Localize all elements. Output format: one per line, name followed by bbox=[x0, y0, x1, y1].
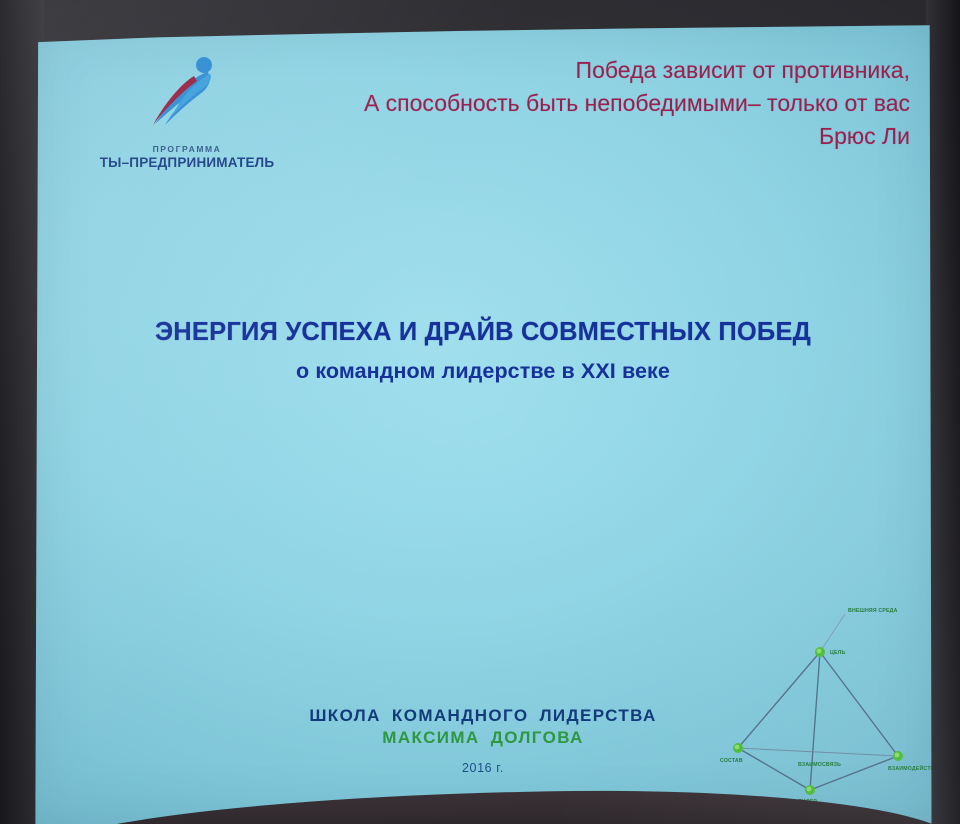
logo-programma-label: ПРОГРАММА bbox=[92, 144, 282, 154]
label-composition: СОСТАВ bbox=[720, 758, 743, 764]
running-figure-logo-icon bbox=[148, 54, 226, 142]
edge-goal-leader bbox=[810, 652, 820, 790]
edge-goal-composition bbox=[738, 652, 820, 748]
edge-composition-interaction bbox=[738, 748, 898, 756]
node-composition bbox=[733, 743, 743, 753]
team-tetrahedron-diagram: ВНЕШНЯЯ СРЕДА ЦЕЛЬ СОСТАВ ВЗАИМОДЕЙСТВИЕ… bbox=[702, 590, 932, 805]
label-external-environment: ВНЕШНЯЯ СРЕДА bbox=[848, 608, 898, 614]
photographed-slide-screenshot: ПРОГРАММА ТЫ–ПРЕДПРИНИМАТЕЛЬ Победа зави… bbox=[0, 0, 960, 824]
logo-program-name: ТЫ–ПРЕДПРИНИМАТЕЛЬ bbox=[92, 155, 282, 170]
quote-author: Брюс Ли bbox=[270, 120, 910, 153]
projected-slide-clip: ПРОГРАММА ТЫ–ПРЕДПРИНИМАТЕЛЬ Победа зави… bbox=[30, 18, 936, 824]
page-subtitle: о командном лидерстве в XXI веке bbox=[30, 359, 936, 384]
quote-line-2: А способность быть непобедимыми– только … bbox=[270, 87, 910, 120]
external-environment-leader-line bbox=[820, 614, 845, 652]
program-logo: ПРОГРАММА ТЫ–ПРЕДПРИНИМАТЕЛЬ bbox=[92, 54, 282, 170]
presentation-slide: ПРОГРАММА ТЫ–ПРЕДПРИНИМАТЕЛЬ Победа зави… bbox=[30, 18, 936, 824]
tetrahedron-svg: ВНЕШНЯЯ СРЕДА ЦЕЛЬ СОСТАВ ВЗАИМОДЕЙСТВИЕ… bbox=[702, 590, 932, 805]
bruce-lee-quote: Победа зависит от противника, А способно… bbox=[270, 54, 910, 153]
label-interrelation: ВЗАИМОСВЯЗЬ bbox=[798, 762, 841, 768]
quote-line-1: Победа зависит от противника, bbox=[270, 54, 910, 87]
node-goal bbox=[815, 647, 825, 657]
node-interaction bbox=[893, 751, 903, 761]
slide-title-block: ЭНЕРГИЯ УСПЕХА И ДРАЙВ СОВМЕСТНЫХ ПОБЕД … bbox=[30, 318, 936, 384]
label-goal: ЦЕЛЬ bbox=[830, 650, 845, 656]
page-title: ЭНЕРГИЯ УСПЕХА И ДРАЙВ СОВМЕСТНЫХ ПОБЕД bbox=[30, 318, 936, 347]
edge-composition-leader bbox=[738, 748, 810, 790]
node-leader bbox=[805, 785, 815, 795]
edge-goal-interaction bbox=[820, 652, 898, 756]
